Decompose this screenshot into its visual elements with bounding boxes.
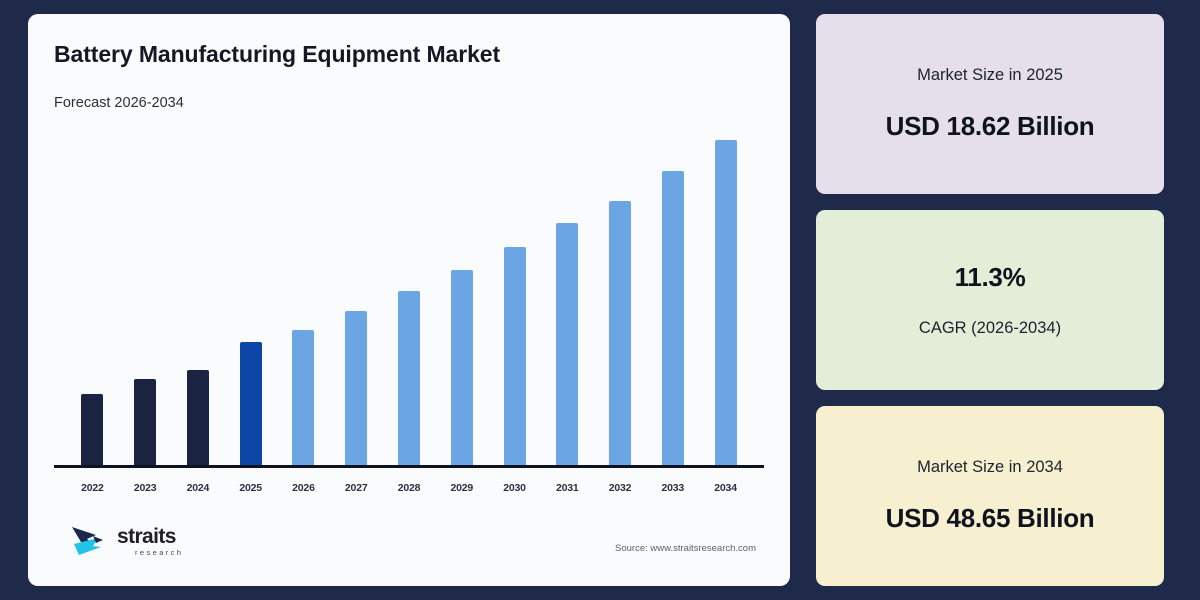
x-tick-2023: 2023 (119, 482, 172, 494)
bar-2025 (240, 342, 262, 468)
bar-2026 (292, 330, 314, 468)
source-note: Source: www.straitsresearch.com (615, 543, 756, 554)
kpi-card-cagr: 11.3%CAGR (2026-2034) (816, 210, 1164, 390)
bar-column-2022 (66, 117, 119, 468)
x-tick-2031: 2031 (541, 482, 594, 494)
bar-2034 (715, 140, 737, 468)
kpi-label-market-size-2025: Market Size in 2025 (917, 66, 1063, 85)
logo-arrow-icon (70, 524, 110, 558)
x-tick-2022: 2022 (66, 482, 119, 494)
bar-column-2025 (224, 117, 277, 468)
kpi-card-market-size-2034: Market Size in 2034USD 48.65 Billion (816, 406, 1164, 586)
x-tick-2024: 2024 (172, 482, 225, 494)
kpi-label-market-size-2034: Market Size in 2034 (917, 458, 1063, 477)
x-tick-2029: 2029 (435, 482, 488, 494)
chart-subtitle: Forecast 2026-2034 (54, 95, 764, 111)
bar-2033 (662, 171, 684, 468)
bar-2028 (398, 291, 420, 468)
plot-area: 2022202320242025202620272028202920302031… (54, 117, 764, 510)
x-tick-2034: 2034 (699, 482, 752, 494)
infographic-root: Battery Manufacturing Equipment Market F… (0, 0, 1200, 600)
page-title: Battery Manufacturing Equipment Market (54, 42, 764, 67)
x-axis-tick-labels: 2022202320242025202620272028202920302031… (54, 482, 764, 494)
bar-column-2031 (541, 117, 594, 468)
x-tick-2032: 2032 (594, 482, 647, 494)
kpi-card-market-size-2025: Market Size in 2025USD 18.62 Billion (816, 14, 1164, 194)
x-axis-line (54, 465, 764, 468)
bar-column-2024 (172, 117, 225, 468)
bar-2022 (81, 394, 103, 468)
bar-column-2028 (383, 117, 436, 468)
kpi-label-cagr: CAGR (2026-2034) (919, 319, 1061, 338)
bar-column-2023 (119, 117, 172, 468)
kpi-card-list: Market Size in 2025USD 18.62 Billion11.3… (816, 14, 1164, 586)
kpi-value-market-size-2034: USD 48.65 Billion (886, 503, 1095, 534)
bar-2024 (187, 370, 209, 468)
bar-2031 (556, 223, 578, 468)
bar-column-2032 (594, 117, 647, 468)
bar-2027 (345, 311, 367, 468)
bar-column-2030 (488, 117, 541, 468)
chart-footer: straits research Source: www.straitsrese… (54, 510, 764, 572)
kpi-value-market-size-2025: USD 18.62 Billion (886, 111, 1095, 142)
bar-2032 (609, 201, 631, 468)
bar-2029 (451, 270, 473, 468)
x-tick-2030: 2030 (488, 482, 541, 494)
bar-2030 (504, 247, 526, 468)
bar-group (54, 117, 764, 468)
chart-panel: Battery Manufacturing Equipment Market F… (28, 14, 790, 586)
kpi-value-cagr: 11.3% (955, 262, 1026, 293)
straits-research-logo[interactable]: straits research (70, 524, 183, 558)
x-tick-2027: 2027 (330, 482, 383, 494)
bar-column-2034 (699, 117, 752, 468)
x-tick-2028: 2028 (383, 482, 436, 494)
bar-2023 (134, 379, 156, 468)
bar-column-2033 (646, 117, 699, 468)
bar-column-2026 (277, 117, 330, 468)
x-tick-2026: 2026 (277, 482, 330, 494)
bar-column-2027 (330, 117, 383, 468)
x-tick-2033: 2033 (646, 482, 699, 494)
bar-column-2029 (435, 117, 488, 468)
logo-wordmark: straits (117, 526, 183, 547)
logo-tagline: research (135, 549, 183, 557)
x-tick-2025: 2025 (224, 482, 277, 494)
